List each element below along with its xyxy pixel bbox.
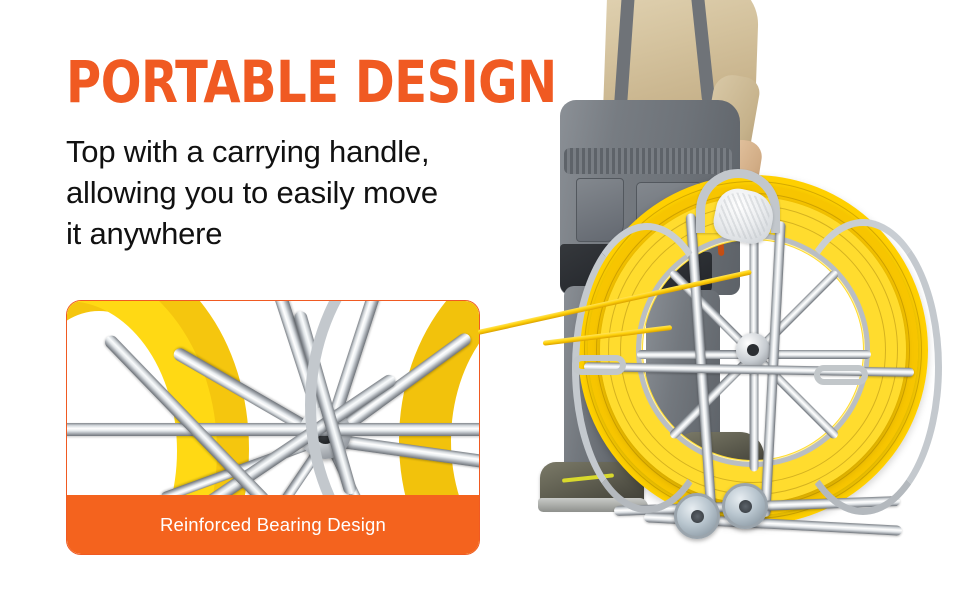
page-title: PORTABLE DESIGN — [66, 53, 557, 111]
banner-stage: PORTABLE DESIGN Top with a carrying hand… — [0, 0, 970, 600]
coil-clamp-left[interactable] — [572, 355, 626, 375]
reel-bearing-hub — [736, 333, 770, 367]
product-photo — [500, 0, 970, 600]
description-line-3: it anywhere — [66, 213, 511, 254]
caster-wheel-left — [674, 493, 720, 539]
caption-banner: Reinforced Bearing Design — [67, 495, 479, 554]
coil-clamp-right[interactable] — [814, 365, 868, 385]
description-line-2: allowing you to easily move — [66, 172, 511, 213]
detail-inset-panel: Reinforced Bearing Design — [66, 300, 480, 555]
caster-wheel-right — [722, 483, 768, 529]
caption-text: Reinforced Bearing Design — [160, 514, 386, 536]
overall-waistband — [564, 148, 732, 174]
feature-description: Top with a carrying handle, allowing you… — [66, 131, 511, 254]
description-line-1: Top with a carrying handle, — [66, 131, 511, 172]
